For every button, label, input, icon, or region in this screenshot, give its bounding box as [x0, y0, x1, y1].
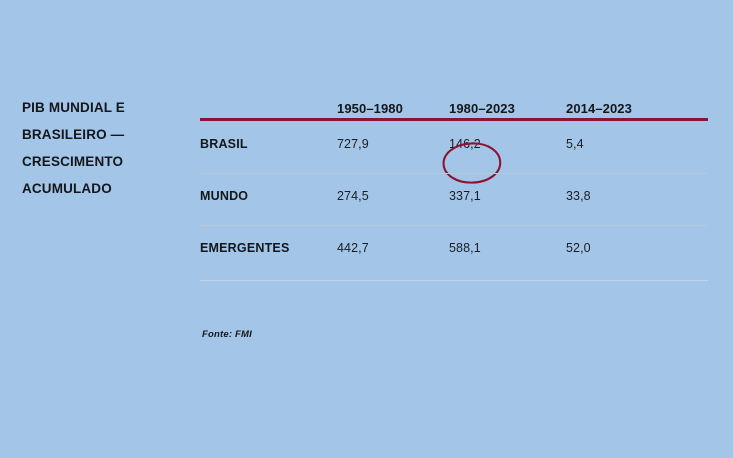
cell-brasil-1980-2023: 146,2	[449, 137, 481, 151]
cell-brasil-2014-2023: 5,4	[566, 137, 708, 151]
cell-emergentes-1950-1980: 442,7	[337, 241, 449, 255]
column-header-1950-1980: 1950–1980	[337, 101, 449, 118]
table-header-row: 1950–1980 1980–2023 2014–2023	[200, 88, 708, 118]
source-note: Fonte: FMI	[202, 329, 252, 340]
page-title-line-4: ACUMULADO	[22, 175, 182, 202]
cell-mundo-2014-2023: 33,8	[566, 189, 708, 203]
page-title-line-1: PIB MUNDIAL E	[22, 94, 182, 121]
table-bottom-rule	[200, 280, 708, 281]
column-header-2014-2023: 2014–2023	[566, 101, 708, 118]
cell-emergentes-2014-2023: 52,0	[566, 241, 708, 255]
page-title-line-2: BRASILEIRO —	[22, 121, 182, 148]
row-label-brasil: BRASIL	[200, 137, 337, 151]
data-table: 1950–1980 1980–2023 2014–2023 BRASIL 727…	[200, 88, 708, 274]
cell-emergentes-1980-2023: 588,1	[449, 241, 566, 255]
table-row: EMERGENTES 442,7 588,1 52,0	[200, 222, 708, 274]
page-title: PIB MUNDIAL E BRASILEIRO — CRESCIMENTO A…	[22, 94, 182, 202]
column-header-1980-2023: 1980–2023	[449, 101, 566, 118]
cell-brasil-1980-2023-wrap: 146,2	[449, 135, 566, 153]
page-title-line-3: CRESCIMENTO	[22, 148, 182, 175]
table-row: BRASIL 727,9 146,2 5,4	[200, 118, 708, 170]
cell-mundo-1950-1980: 274,5	[337, 189, 449, 203]
row-label-mundo: MUNDO	[200, 189, 337, 203]
cell-mundo-1980-2023: 337,1	[449, 189, 566, 203]
table-grid: 1950–1980 1980–2023 2014–2023 BRASIL 727…	[200, 88, 708, 274]
row-label-emergentes: EMERGENTES	[200, 241, 337, 255]
table-row: MUNDO 274,5 337,1 33,8	[200, 170, 708, 222]
slide-canvas: PIB MUNDIAL E BRASILEIRO — CRESCIMENTO A…	[0, 0, 733, 458]
cell-brasil-1950-1980: 727,9	[337, 137, 449, 151]
